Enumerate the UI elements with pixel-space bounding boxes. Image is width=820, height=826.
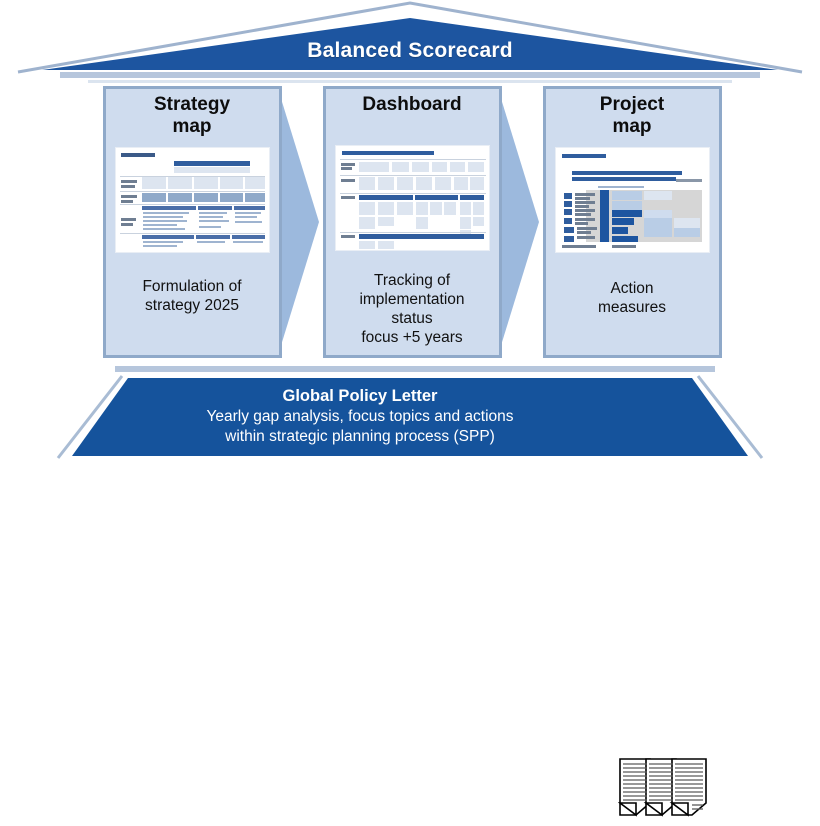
balanced-scorecard-diagram: Balanced Scorecard Strategy map <box>0 0 820 463</box>
arrow-tip-icon <box>279 92 319 352</box>
pillar-caption-dashboard: Tracking of implementation status focus … <box>323 272 501 348</box>
pillar-caption-project-map: Action measures <box>543 280 721 318</box>
roof-shape <box>0 0 820 92</box>
strategy-map-thumbnail[interactable] <box>116 148 269 252</box>
bottom-banner[interactable]: Global Policy Letter Yearly gap analysis… <box>0 366 820 463</box>
roof-base-bar <box>60 72 760 78</box>
banner-fill <box>72 378 748 456</box>
pillar-title-dashboard: Dashboard <box>362 94 461 116</box>
roof-base-bar-secondary <box>88 80 732 83</box>
roof-pediment: Balanced Scorecard <box>0 0 820 92</box>
dashboard-thumbnail[interactable] <box>336 146 489 250</box>
roof-fill <box>42 18 778 70</box>
arrow-tip-icon <box>499 92 539 352</box>
project-map-thumbnail[interactable] <box>556 148 709 252</box>
pillar-dashboard[interactable]: Dashboard <box>323 86 543 358</box>
banner-top-bar <box>115 366 715 372</box>
pillar-title-strategy-map: Strategy map <box>154 94 230 138</box>
pillars-row: Strategy map <box>0 86 820 364</box>
pillar-title-project-map: Project map <box>600 94 664 138</box>
pillar-caption-strategy-map: Formulation of strategy 2025 <box>103 278 281 316</box>
banner-shape <box>0 366 820 463</box>
pillar-project-map[interactable]: Project map <box>543 86 723 358</box>
stacked-documents-icon <box>618 753 710 821</box>
pillar-strategy-map[interactable]: Strategy map <box>103 86 323 358</box>
